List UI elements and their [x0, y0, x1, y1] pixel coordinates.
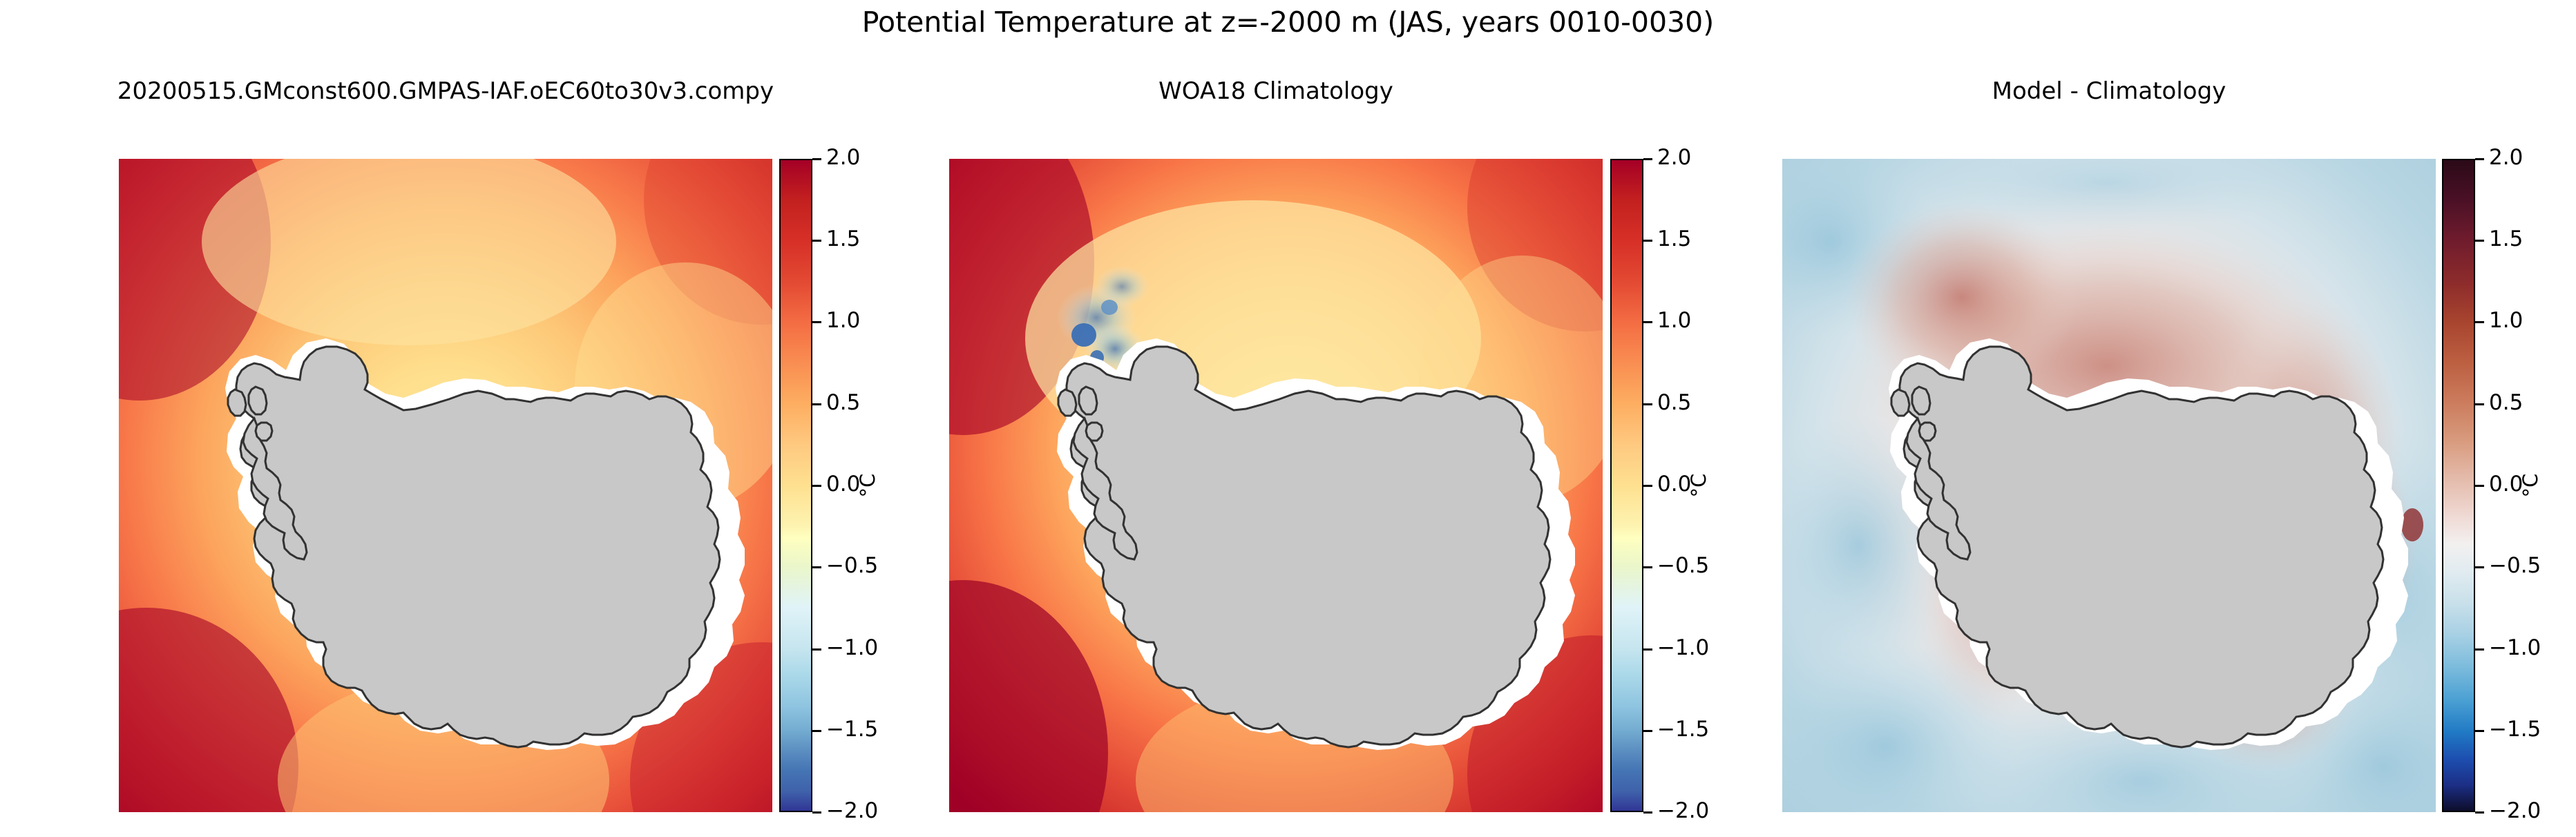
- tick-mark: [1643, 730, 1652, 732]
- tick-label: 1.5: [2489, 227, 2523, 251]
- clim-cold-core-1: [1071, 323, 1096, 347]
- colorbar-climatology-ticks: 2.0 1.5 1.0 0.5 0.0 −0.5 −1.0 −1.5 −2.0: [1643, 159, 1782, 812]
- colorbar-model-unit-label: °C: [856, 474, 879, 498]
- tick-label: 2.0: [2489, 145, 2523, 170]
- panel-model: 20200515.GMconst600.GMPAS-IAF.oEC60to30v…: [119, 159, 772, 812]
- tick-label: 1.5: [826, 227, 860, 251]
- tick-label: 1.0: [826, 308, 860, 333]
- tick-label: 0.5: [2489, 390, 2523, 415]
- tick-label: 0.0: [1657, 472, 1691, 497]
- figure-canvas: Potential Temperature at z=-2000 m (JAS,…: [0, 0, 2576, 837]
- tick-mark: [812, 403, 821, 405]
- tick-mark: [812, 240, 821, 242]
- panel-difference-title: Model - Climatology: [1658, 77, 2560, 105]
- tick-mark: [812, 566, 821, 568]
- tick-label: 2.0: [826, 145, 860, 170]
- tick-mark: [812, 321, 821, 323]
- map-model[interactable]: [119, 159, 772, 812]
- tick-label: 1.0: [1657, 308, 1691, 333]
- tick-mark: [812, 158, 821, 160]
- tick-mark: [812, 485, 821, 487]
- tick-label: 0.5: [1657, 390, 1691, 415]
- tick-mark: [1643, 240, 1652, 242]
- map-model-svg: [119, 159, 772, 812]
- tick-mark: [2475, 485, 2484, 487]
- colorbar-difference-unit-label: °C: [2519, 474, 2542, 498]
- colorbar-climatology-gradient: [1610, 159, 1643, 812]
- tick-label: −1.5: [826, 717, 878, 742]
- tick-label: −1.0: [2489, 635, 2541, 660]
- colorbar-difference: 2.0 1.5 1.0 0.5 0.0 −0.5 −1.0 −1.5 −2.0 …: [2442, 159, 2478, 812]
- tick-label: −2.0: [826, 798, 878, 823]
- colorbar-model: 2.0 1.5 1.0 0.5 0.0 −0.5 −1.0 −1.5 −2.0 …: [779, 159, 815, 812]
- tick-mark: [1643, 811, 1652, 814]
- diff-hotspot-east: [2401, 508, 2423, 541]
- tick-mark: [1643, 158, 1652, 160]
- tick-label: 0.0: [2489, 472, 2523, 497]
- tick-mark: [2475, 730, 2484, 732]
- colorbar-difference-gradient: [2442, 159, 2475, 812]
- tick-mark: [812, 811, 821, 814]
- tick-label: −1.0: [1657, 635, 1709, 660]
- colorbar-model-ticks: 2.0 1.5 1.0 0.5 0.0 −0.5 −1.0 −1.5 −2.0: [812, 159, 951, 812]
- tick-label: 1.5: [1657, 227, 1691, 251]
- tick-label: −1.5: [1657, 717, 1709, 742]
- tick-label: −0.5: [826, 553, 878, 578]
- tick-mark: [2475, 403, 2484, 405]
- clim-cold-pool-weddell-2: [1094, 266, 1149, 307]
- tick-label: 0.5: [826, 390, 860, 415]
- tick-mark: [1643, 648, 1652, 651]
- tick-mark: [1643, 321, 1652, 323]
- tick-mark: [1643, 566, 1652, 568]
- tick-mark: [1643, 403, 1652, 405]
- tick-mark: [1643, 485, 1652, 487]
- panel-difference: Model - Climatology: [1782, 159, 2436, 812]
- map-difference-svg: [1782, 159, 2436, 812]
- tick-label: −0.5: [2489, 553, 2541, 578]
- clim-cold-core-3: [1101, 300, 1118, 315]
- tick-label: 1.0: [2489, 308, 2523, 333]
- colorbar-model-gradient: [779, 159, 812, 812]
- tick-mark: [2475, 566, 2484, 568]
- tick-label: −1.5: [2489, 717, 2541, 742]
- tick-label: −2.0: [2489, 798, 2541, 823]
- tick-mark: [2475, 321, 2484, 323]
- tick-mark: [2475, 648, 2484, 651]
- tick-mark: [2475, 240, 2484, 242]
- panel-climatology-title: WOA18 Climatology: [825, 77, 1727, 105]
- map-climatology[interactable]: [949, 159, 1603, 812]
- panel-model-title: 20200515.GMconst600.GMPAS-IAF.oEC60to30v…: [0, 77, 897, 105]
- panel-climatology: WOA18 Climatology: [949, 159, 1603, 812]
- tick-label: −0.5: [1657, 553, 1709, 578]
- tick-mark: [812, 730, 821, 732]
- map-difference[interactable]: [1782, 159, 2436, 812]
- colorbar-climatology: 2.0 1.5 1.0 0.5 0.0 −0.5 −1.0 −1.5 −2.0 …: [1610, 159, 1646, 812]
- tick-mark: [2475, 158, 2484, 160]
- map-climatology-svg: [949, 159, 1603, 812]
- tick-label: 0.0: [826, 472, 860, 497]
- tick-label: −2.0: [1657, 798, 1709, 823]
- tick-mark: [2475, 811, 2484, 814]
- tick-label: −1.0: [826, 635, 878, 660]
- colorbar-climatology-unit-label: °C: [1687, 474, 1710, 498]
- tick-label: 2.0: [1657, 145, 1691, 170]
- tick-mark: [812, 648, 821, 651]
- figure-suptitle: Potential Temperature at z=-2000 m (JAS,…: [0, 6, 2576, 39]
